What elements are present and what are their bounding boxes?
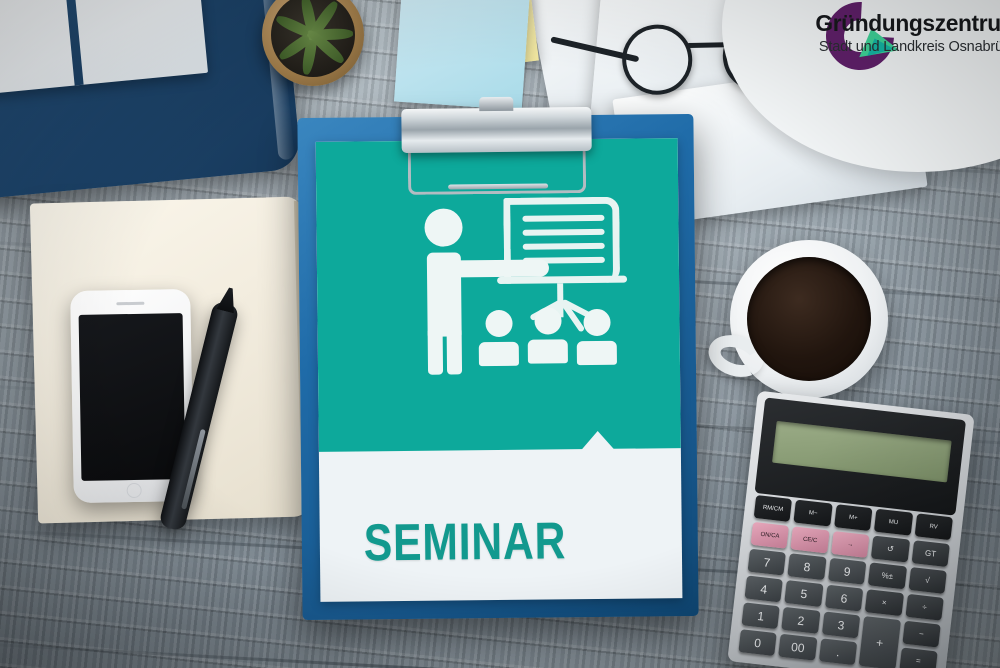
- calc-key[interactable]: 00: [779, 634, 818, 661]
- calc-key[interactable]: 8: [788, 553, 827, 580]
- presenter-at-flipchart-with-audience-icon: [408, 197, 626, 379]
- presenter-head: [424, 208, 462, 246]
- calc-key[interactable]: √: [908, 567, 947, 594]
- coffee-cup: [730, 240, 888, 398]
- calc-key[interactable]: ÷: [905, 594, 944, 621]
- audience-head: [485, 310, 512, 337]
- calc-key[interactable]: ON/CA: [751, 522, 790, 549]
- sticky-note-blue: [394, 0, 530, 110]
- calc-key[interactable]: MU: [874, 509, 913, 536]
- phone-earpiece: [116, 302, 144, 305]
- phone-screen: [79, 313, 186, 481]
- coffee-liquid: [747, 257, 871, 381]
- presenter-leg: [428, 331, 443, 375]
- clipboard: SEMINAR Lorem ipsum dolor sit amet, cons…: [297, 114, 698, 620]
- phone-home-button: [126, 483, 141, 498]
- calc-key[interactable]: 1: [741, 602, 780, 629]
- calc-key[interactable]: 3: [822, 611, 861, 638]
- calc-key[interactable]: M−: [794, 500, 833, 527]
- calc-key[interactable]: 0: [738, 629, 777, 656]
- calc-key[interactable]: GT: [911, 540, 950, 567]
- calc-key[interactable]: →: [831, 531, 870, 558]
- calc-key[interactable]: ×: [865, 589, 904, 616]
- metal-clip: [401, 107, 591, 153]
- clip-lower-bar: [448, 183, 548, 189]
- clip-nub: [479, 97, 513, 111]
- calc-key[interactable]: −: [902, 621, 941, 648]
- calc-key[interactable]: 9: [828, 558, 867, 585]
- board-text-line: [522, 215, 604, 222]
- audience-seat: [528, 339, 568, 363]
- calc-key[interactable]: 2: [782, 607, 821, 634]
- calc-key[interactable]: %±: [868, 562, 907, 589]
- calc-key[interactable]: ↺: [871, 536, 910, 563]
- calc-key[interactable]: .: [819, 638, 858, 665]
- board-text-line: [523, 229, 605, 236]
- logo-wordmark: Gründungszentrum Stadt und Landkreis Osn…: [768, 10, 1000, 55]
- calc-key[interactable]: =: [899, 647, 938, 668]
- glasses-lens: [617, 20, 697, 100]
- audience-seat: [577, 341, 617, 365]
- poster-heading: SEMINAR: [364, 511, 567, 573]
- binder-pages: [0, 0, 208, 95]
- board-text-line: [523, 243, 605, 250]
- calc-key[interactable]: RV: [914, 513, 953, 540]
- calc-key[interactable]: 7: [748, 549, 787, 576]
- logo-title: Gründungszentrum: [773, 10, 1000, 37]
- calc-key[interactable]: M+: [834, 504, 873, 531]
- calculator-display: [772, 421, 952, 483]
- calc-key[interactable]: RM/CM: [754, 495, 793, 522]
- seminar-poster: SEMINAR Lorem ipsum dolor sit amet, cons…: [316, 138, 683, 602]
- audience-seat: [479, 342, 519, 366]
- presenter-body: [427, 252, 462, 336]
- calculator: RM/CM M− M+ MU RV ON/CA CE/C → ↺ GT 7 8 …: [727, 391, 974, 668]
- ring-binder: [0, 0, 302, 203]
- presenter-arm: [449, 259, 549, 277]
- calc-key[interactable]: 4: [744, 575, 783, 602]
- logo-subtitle: Stadt und Landkreis Osnabrück: [773, 38, 1000, 55]
- presenter-leg: [447, 330, 462, 374]
- calculator-keypad: RM/CM M− M+ MU RV ON/CA CE/C → ↺ GT 7 8 …: [738, 495, 953, 668]
- calc-key[interactable]: 6: [825, 585, 864, 612]
- calc-key[interactable]: CE/C: [791, 526, 830, 553]
- audience-head: [583, 309, 610, 336]
- seminar-banner-image: RM/CM M− M+ MU RV ON/CA CE/C → ↺ GT 7 8 …: [0, 0, 1000, 668]
- audience-head: [534, 307, 561, 334]
- calc-key[interactable]: 5: [785, 580, 824, 607]
- calc-key[interactable]: +: [859, 616, 901, 668]
